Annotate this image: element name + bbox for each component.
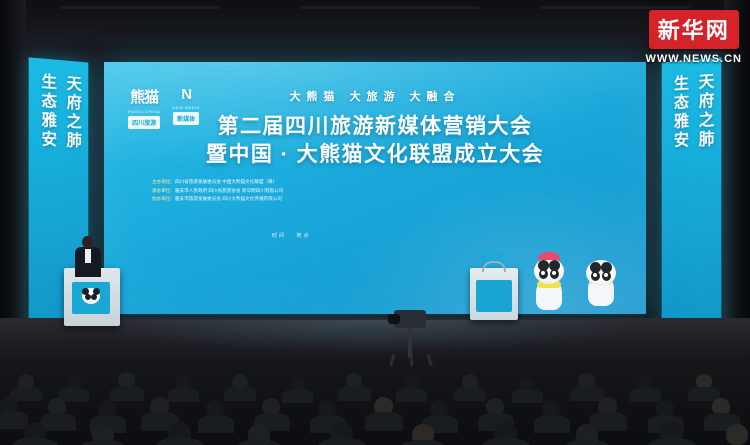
- meta-label-3: 协办单位：: [152, 196, 175, 201]
- presenter-shirt: [85, 249, 91, 263]
- hall-ceiling: [0, 0, 750, 42]
- side-banner-right-line2: 生态雅安: [667, 74, 690, 334]
- screen-title-line-2: 暨中国 · 大熊猫文化联盟成立大会: [104, 138, 646, 168]
- panda-eye-left: [539, 269, 548, 279]
- stage-display-box: [470, 268, 518, 320]
- meta-label-2: 承办单位：: [152, 188, 175, 193]
- screen-kicker-text: 大熊猫 大旅游 大融合: [104, 88, 646, 104]
- side-banner-right-line1: 天府之肺: [692, 72, 715, 336]
- presenter-head: [82, 236, 93, 248]
- podium-panda-eye-right: [91, 294, 97, 300]
- main-led-screen: 熊猫 PANDA CHINA 四川旅游 N NEW MEDIA 新媒体 大熊猫 …: [104, 62, 646, 314]
- xinhua-logo: 新华网: [649, 10, 739, 49]
- stage-floor-reflection: [90, 320, 650, 354]
- screen-title-line-1: 第二届四川旅游新媒体营销大会: [104, 110, 646, 140]
- panda-cap: [538, 252, 560, 260]
- side-banner-left-line2: 生态雅安: [35, 72, 58, 336]
- xinhua-url: WWW.NEWS.CN: [645, 53, 742, 65]
- camera-lens: [388, 314, 400, 324]
- panda-eye-left: [591, 271, 600, 281]
- side-banner-right: 天府之肺 生态雅安: [662, 57, 722, 352]
- panda-eye-right: [602, 271, 611, 281]
- seated-audience: [0, 366, 750, 445]
- meta-value-1: 四川省旅游发展委员会 中国大熊猫文化联盟（筹）: [175, 179, 277, 184]
- presenter-at-podium: [74, 236, 102, 276]
- panda-eye-right: [550, 269, 559, 279]
- hall-wall-left: [0, 0, 26, 360]
- podium-front-panel: [72, 282, 110, 314]
- screen-meta-block: 主办单位：四川省旅游发展委员会 中国大熊猫文化联盟（筹） 承办单位：雅安市人民政…: [152, 178, 482, 204]
- meta-value-2: 雅安市人民政府 四川省旅游协会 新华网四川有限公司: [175, 188, 283, 193]
- meta-line-3: 协办单位：雅安市旅游发展委员会 四川大熊猫文化传播有限公司: [152, 195, 482, 204]
- panda-head: [534, 258, 564, 284]
- meta-label-1: 主办单位：: [152, 179, 175, 184]
- panda-mascot-right: [580, 254, 622, 306]
- tv-camera-on-tripod: [388, 310, 434, 372]
- photo-canvas: 天府之肺 生态雅安 天府之肺 生态雅安 熊猫 PANDA CHINA 四川旅游 …: [0, 0, 750, 445]
- screen-hosts-line: 时间 · 地点: [272, 232, 310, 239]
- meta-line-2: 承办单位：雅安市人民政府 四川省旅游协会 新华网四川有限公司: [152, 187, 482, 196]
- display-box-handle: [482, 261, 506, 272]
- meta-value-3: 雅安市旅游发展委员会 四川大熊猫文化传播有限公司: [175, 196, 282, 201]
- podium-panda-icon: [82, 288, 100, 304]
- meta-line-1: 主办单位：四川省旅游发展委员会 中国大熊猫文化联盟（筹）: [152, 178, 482, 187]
- panda-head: [586, 260, 616, 286]
- display-box-front-panel: [476, 280, 512, 312]
- watermark: 新华网 WWW.NEWS.CN: [645, 10, 742, 65]
- panda-mascot-left: [526, 252, 572, 310]
